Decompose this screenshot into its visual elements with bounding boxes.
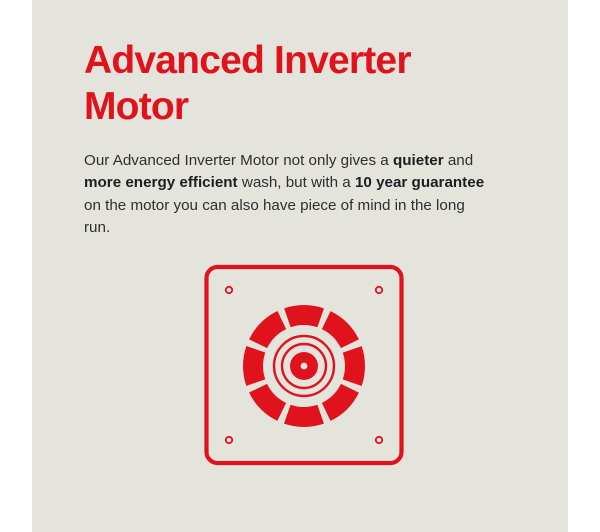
screw-hole-top-right bbox=[376, 287, 382, 293]
feature-card: Advanced Inverter Motor Our Advanced Inv… bbox=[32, 0, 568, 532]
description-paragraph: Our Advanced Inverter Motor not only giv… bbox=[84, 150, 492, 240]
description-emphasis: more energy efficient bbox=[84, 174, 238, 191]
description-text: Our Advanced Inverter Motor not only giv… bbox=[84, 152, 393, 169]
description-text: on the motor you can also have piece of … bbox=[84, 197, 465, 236]
description-emphasis: quieter bbox=[393, 152, 444, 169]
screw-hole-bottom-left bbox=[226, 437, 232, 443]
screw-hole-top-left bbox=[226, 287, 232, 293]
fan-hub-centre-dot bbox=[301, 363, 308, 370]
fan-rotor-group bbox=[253, 315, 355, 417]
description-text: wash, but with a bbox=[238, 174, 355, 191]
inverter-motor-icon bbox=[204, 262, 404, 468]
screw-hole-bottom-right bbox=[376, 437, 382, 443]
description-emphasis: 10 year guarantee bbox=[355, 174, 484, 191]
page-title: Advanced Inverter Motor bbox=[84, 38, 504, 130]
description-text: and bbox=[444, 152, 474, 169]
